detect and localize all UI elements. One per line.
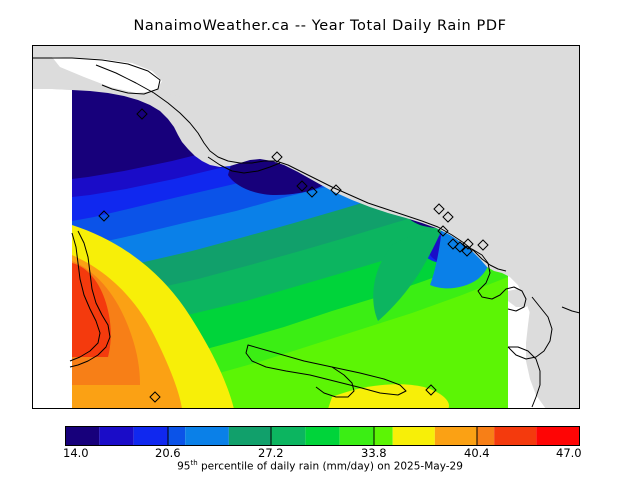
- colorbar-tick-labels: 14.020.627.233.840.447.0: [0, 446, 640, 460]
- colorbar-swatch: [168, 426, 185, 446]
- colorbar-swatch: [229, 426, 271, 446]
- contour-map: [32, 45, 580, 409]
- colorbar-swatch: [65, 426, 99, 446]
- colorbar-swatch: [536, 426, 580, 446]
- colorbar-swatch: [374, 426, 393, 446]
- colorbar-swatch: [99, 426, 133, 446]
- caption-text: percentile of daily rain (mm/day) on 202…: [198, 461, 463, 473]
- colorbar-caption: 95th percentile of daily rain (mm/day) o…: [0, 459, 640, 473]
- weather-map-figure: NanaimoWeather.ca -- Year Total Daily Ra…: [0, 0, 640, 480]
- colorbar[interactable]: [65, 426, 580, 446]
- page-title: NanaimoWeather.ca -- Year Total Daily Ra…: [0, 18, 640, 34]
- colorbar-tick-label: 20.6: [155, 446, 181, 460]
- colorbar-swatches: [65, 426, 580, 446]
- colorbar-swatch: [185, 426, 229, 446]
- colorbar-tick-label: 27.2: [258, 446, 284, 460]
- colorbar-svg[interactable]: [65, 426, 580, 446]
- colorbar-tick-label: 47.0: [556, 446, 582, 460]
- colorbar-swatch: [393, 426, 435, 446]
- colorbar-swatch: [305, 426, 339, 446]
- caption-ordinal: th: [190, 459, 197, 467]
- caption-value: 95: [177, 461, 190, 473]
- colorbar-tick-label: 33.8: [361, 446, 387, 460]
- map-panel: [32, 45, 580, 409]
- colorbar-swatch: [134, 426, 168, 446]
- colorbar-swatch: [340, 426, 374, 446]
- colorbar-swatch: [477, 426, 494, 446]
- colorbar-tick-label: 14.0: [63, 446, 89, 460]
- colorbar-swatch: [271, 426, 305, 446]
- colorbar-swatch: [494, 426, 536, 446]
- colorbar-tick-label: 40.4: [464, 446, 490, 460]
- colorbar-swatch: [435, 426, 477, 446]
